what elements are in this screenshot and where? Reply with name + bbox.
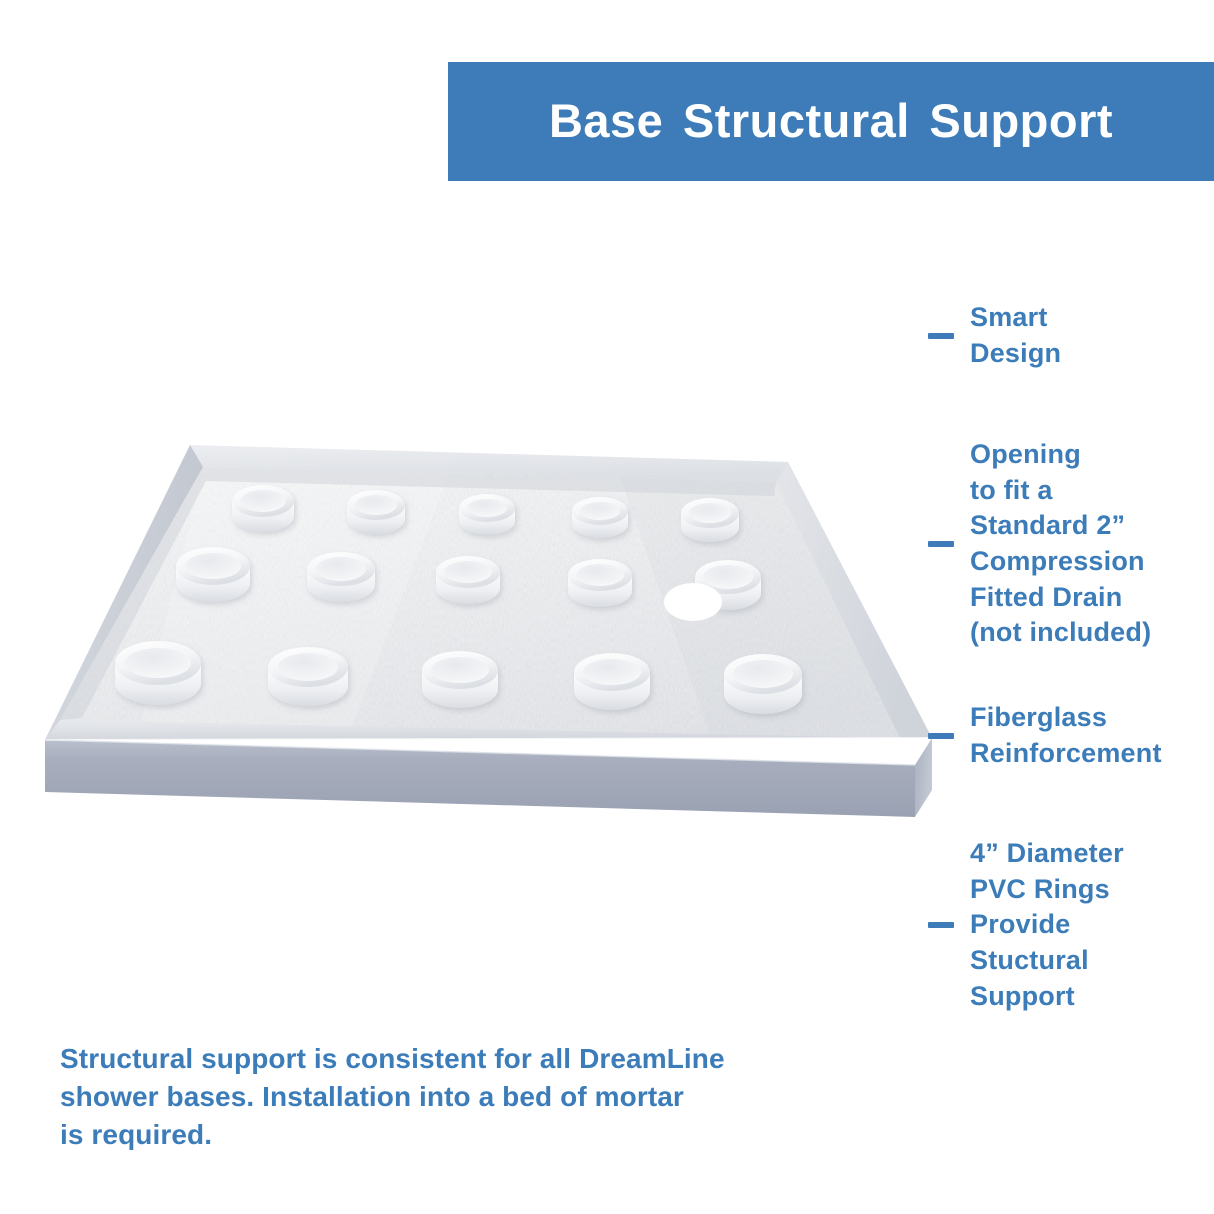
base-front-side-face (45, 740, 915, 817)
pvc-ring (681, 498, 739, 542)
pvc-ring (232, 485, 294, 532)
footer-note: Structural support is consistent for all… (60, 1040, 820, 1154)
callout-drain-opening-label: Opening to fit a Standard 2” Compression… (970, 437, 1151, 651)
pvc-ring (459, 494, 515, 535)
dash-marker-icon (928, 541, 954, 547)
pvc-ring (568, 559, 632, 607)
callout-fiberglass-label: Fiberglass Reinforcement (970, 700, 1162, 771)
pvc-ring (574, 653, 650, 710)
pvc-ring (268, 647, 348, 706)
pvc-ring (436, 556, 500, 604)
dash-marker-icon (928, 922, 954, 928)
pvc-ring (724, 654, 802, 714)
dash-marker-icon (928, 333, 954, 339)
header-banner: Base Structural Support (448, 62, 1214, 181)
callout-pvc-rings: 4” Diameter PVC Rings Provide Stuctural … (928, 836, 1124, 1014)
pvc-ring (115, 641, 201, 705)
callout-smart-design-label: Smart Design (970, 300, 1061, 371)
product-illustration (20, 420, 940, 820)
pvc-ring (176, 547, 250, 602)
pvc-ring (422, 651, 498, 708)
callout-pvc-rings-label: 4” Diameter PVC Rings Provide Stuctural … (970, 836, 1124, 1014)
drain-opening (664, 583, 722, 621)
dash-marker-icon (928, 733, 954, 739)
pvc-ring (307, 552, 375, 602)
callout-drain-opening: Opening to fit a Standard 2” Compression… (928, 437, 1151, 651)
page-title: Base Structural Support (549, 97, 1113, 146)
shower-base-render (20, 420, 940, 820)
callout-smart-design: Smart Design (928, 300, 1061, 371)
pvc-ring (347, 490, 405, 534)
pvc-ring (572, 497, 628, 538)
callout-fiberglass-reinforcement: Fiberglass Reinforcement (928, 700, 1162, 771)
